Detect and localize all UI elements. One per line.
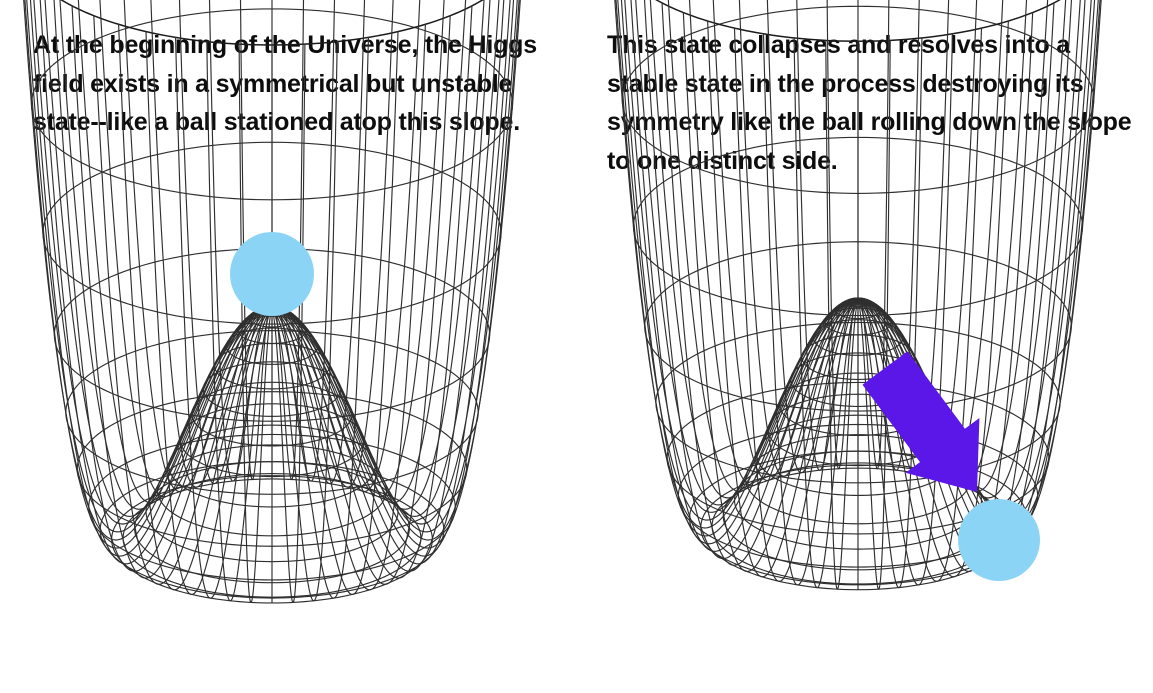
mesh-line [735, 451, 982, 549]
mesh-line [112, 476, 433, 603]
mesh-line [824, 308, 891, 335]
mesh-line [146, 462, 398, 562]
mesh-line [43, 142, 501, 324]
mesh-line [135, 474, 410, 583]
mesh-line [813, 320, 903, 356]
mesh-line [723, 463, 992, 570]
mesh-line [226, 328, 318, 364]
mesh-line [678, 425, 1037, 568]
mesh-line [836, 301, 881, 319]
mesh-line [656, 322, 1060, 482]
mesh-line [66, 331, 478, 495]
mesh-line [89, 434, 456, 579]
higgs-ball-right [958, 499, 1040, 581]
mesh-line [180, 404, 363, 477]
mesh-line [123, 479, 421, 597]
mesh-line [77, 392, 466, 547]
panel-left: At the beginning of the Universe, the Hi… [0, 0, 585, 693]
mesh-line [100, 462, 444, 598]
panel-right: This state collapses and resolves into a… [585, 0, 1153, 693]
mesh-line [203, 362, 340, 417]
mesh-line [169, 425, 375, 507]
mesh-line [215, 343, 330, 388]
mesh-line [667, 382, 1049, 533]
mesh-line [261, 306, 284, 315]
mesh-line [757, 415, 959, 495]
mesh-line [746, 435, 971, 524]
mesh-line [768, 394, 948, 465]
mesh-line [779, 373, 936, 435]
mesh-line [847, 298, 869, 307]
higgs-ball-left [230, 232, 314, 316]
mesh-line [249, 309, 295, 327]
diagram-page: At the beginning of the Universe, the Hi… [0, 0, 1153, 693]
mesh-line [157, 445, 386, 536]
mesh-line [645, 242, 1072, 411]
mesh-line [712, 468, 1004, 584]
roll-down-arrow-icon [863, 351, 980, 492]
mesh-line [54, 248, 489, 421]
mesh-line [791, 353, 926, 406]
caption-left: At the beginning of the Universe, the Hi… [33, 26, 563, 142]
mesh-line [192, 382, 352, 446]
mesh-line [802, 335, 914, 380]
caption-right: This state collapses and resolves into a… [607, 26, 1137, 180]
mesh-line [238, 316, 307, 343]
mesh-line [690, 451, 1027, 585]
mesh-line [701, 465, 1015, 590]
